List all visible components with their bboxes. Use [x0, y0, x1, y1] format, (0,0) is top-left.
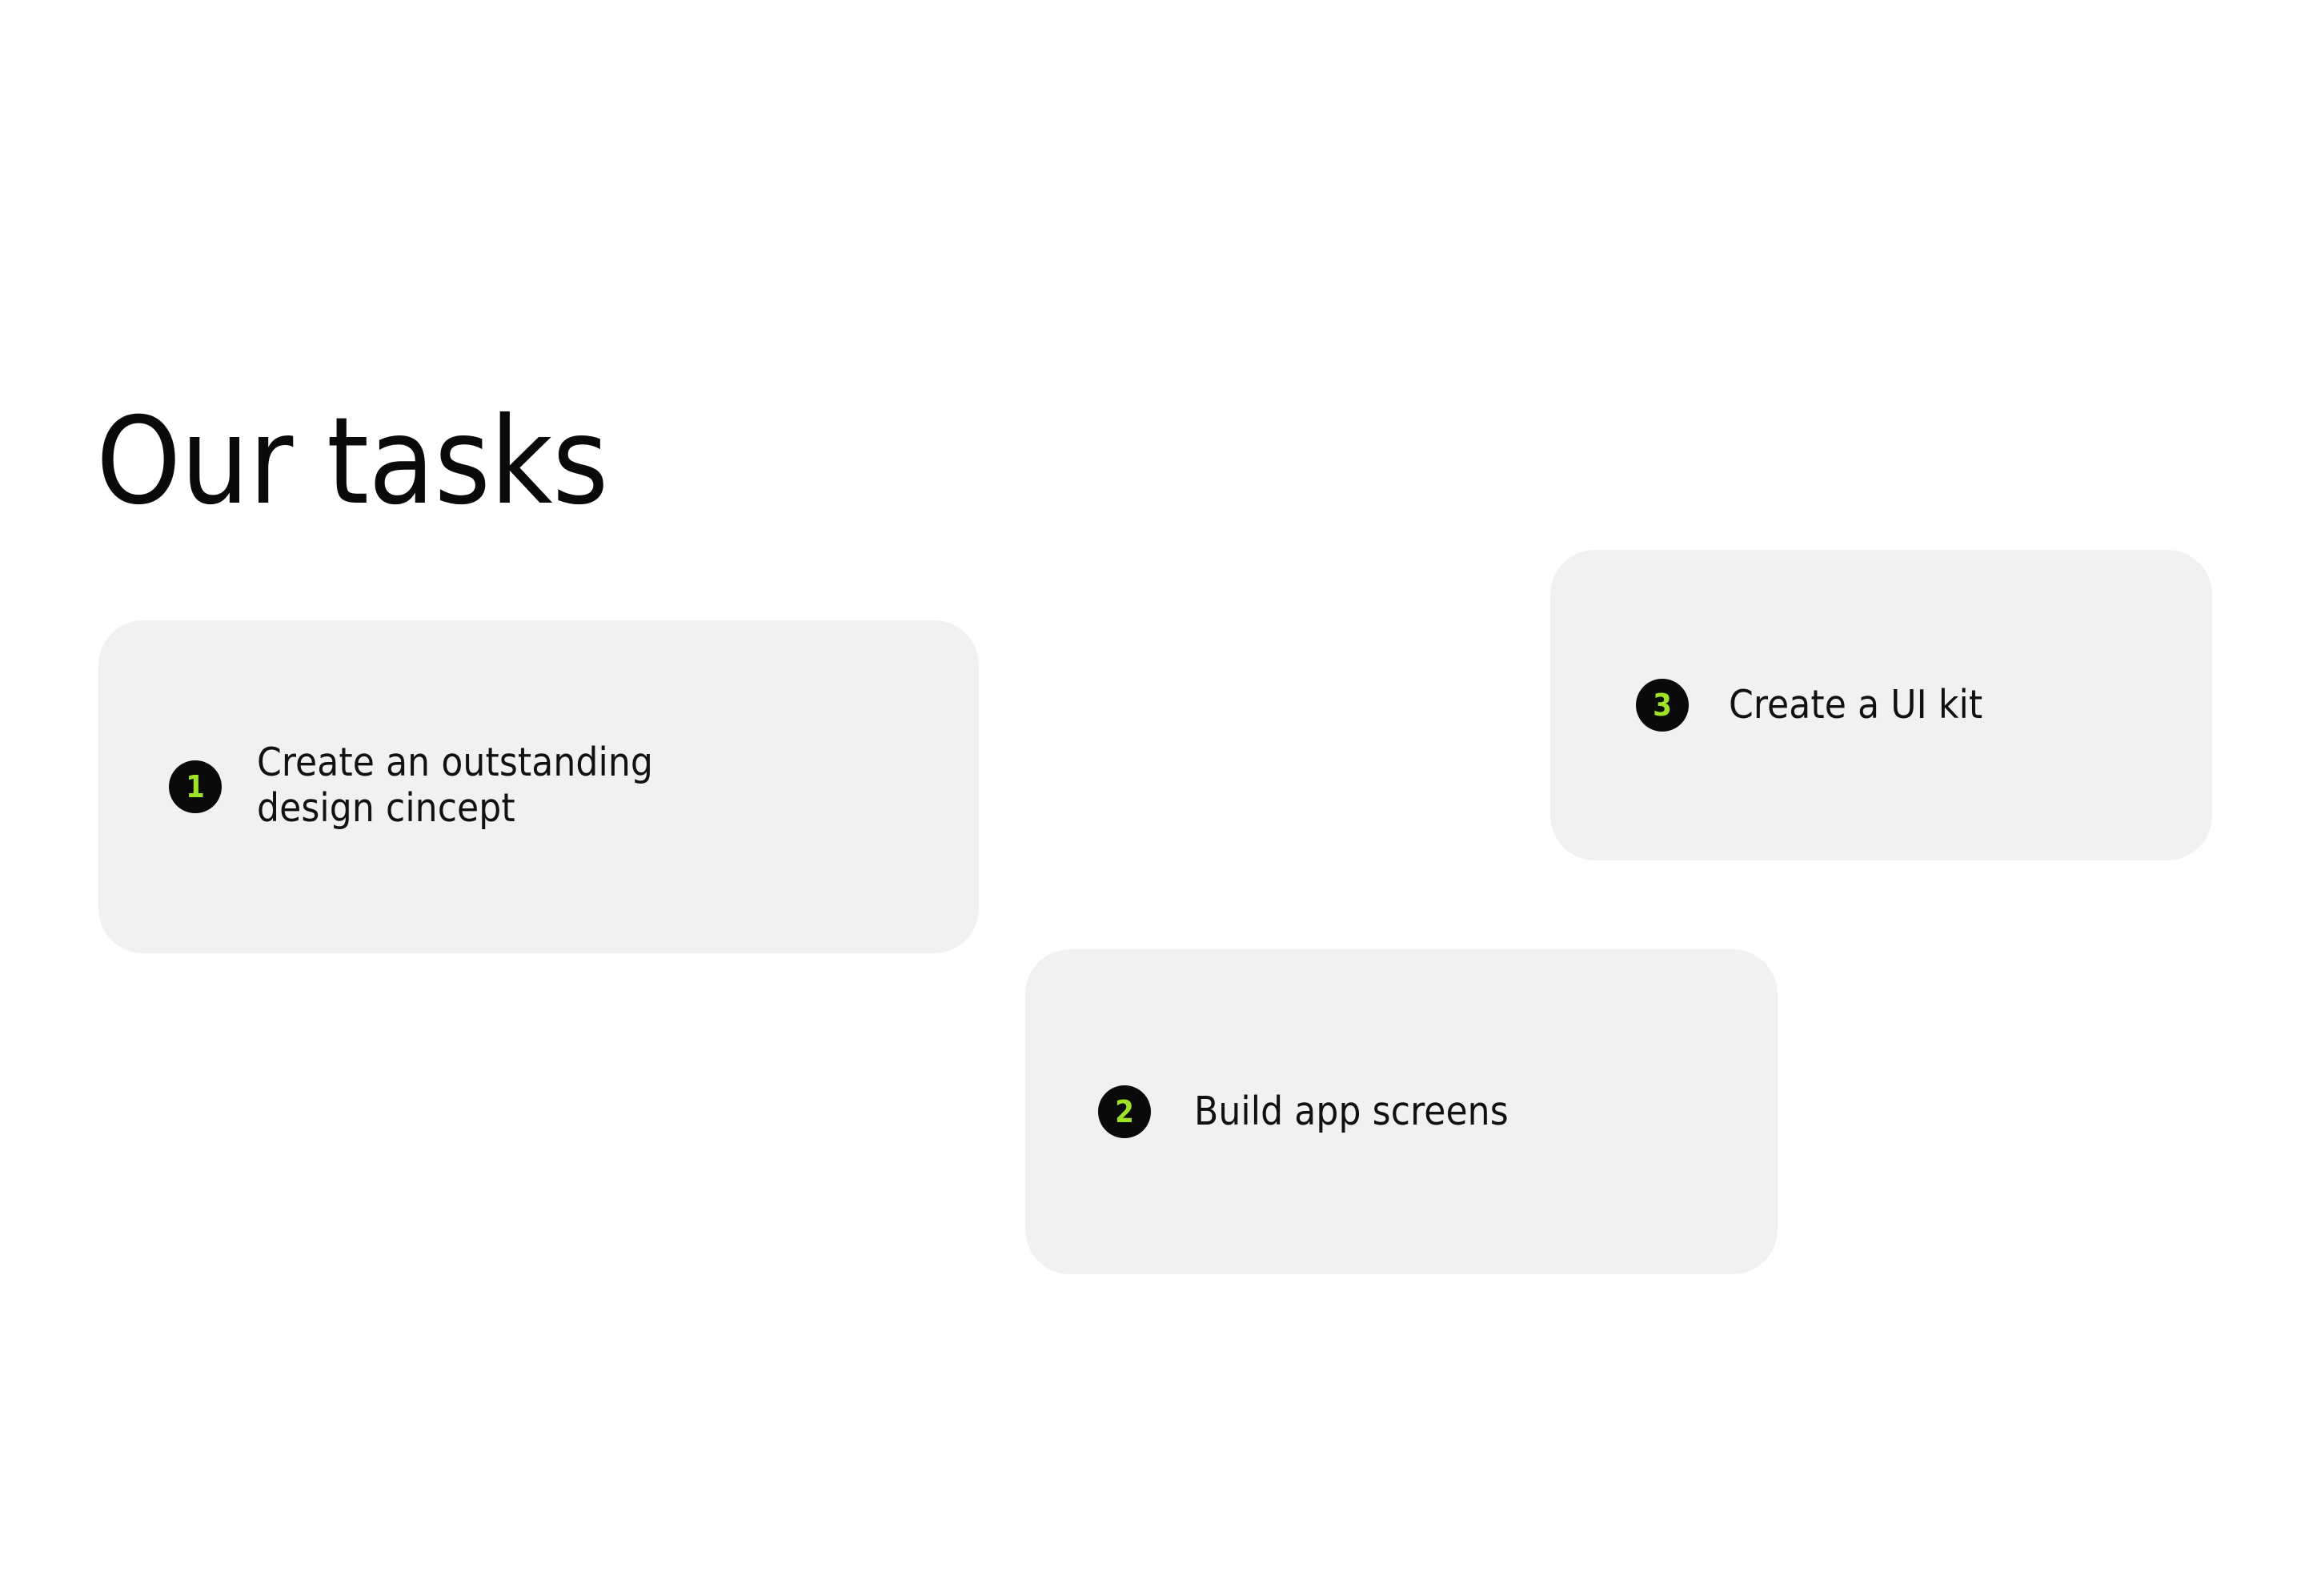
- page-title: Our tasks: [96, 399, 608, 526]
- task-card-1[interactable]: 1 Create an outstanding design cincept: [98, 620, 979, 953]
- task-label-3: Create a UI kit: [1729, 683, 1982, 728]
- task-label-2: Build app screens: [1194, 1089, 1509, 1135]
- task-card-2[interactable]: 2 Build app screens: [1025, 949, 1778, 1274]
- task-number-badge-2: 2: [1098, 1085, 1151, 1138]
- task-card-1-content: 1 Create an outstanding design cincept: [98, 742, 979, 832]
- task-card-3-content: 3 Create a UI kit: [1550, 679, 2212, 732]
- task-card-3[interactable]: 3 Create a UI kit: [1550, 550, 2212, 860]
- task-number-badge-3: 3: [1636, 679, 1689, 732]
- task-card-2-content: 2 Build app screens: [1025, 1085, 1778, 1138]
- task-number-badge-1: 1: [169, 760, 222, 813]
- task-label-1: Create an outstanding design cincept: [257, 740, 653, 832]
- slide-canvas: Our tasks 1 Create an outstanding design…: [0, 0, 2305, 1596]
